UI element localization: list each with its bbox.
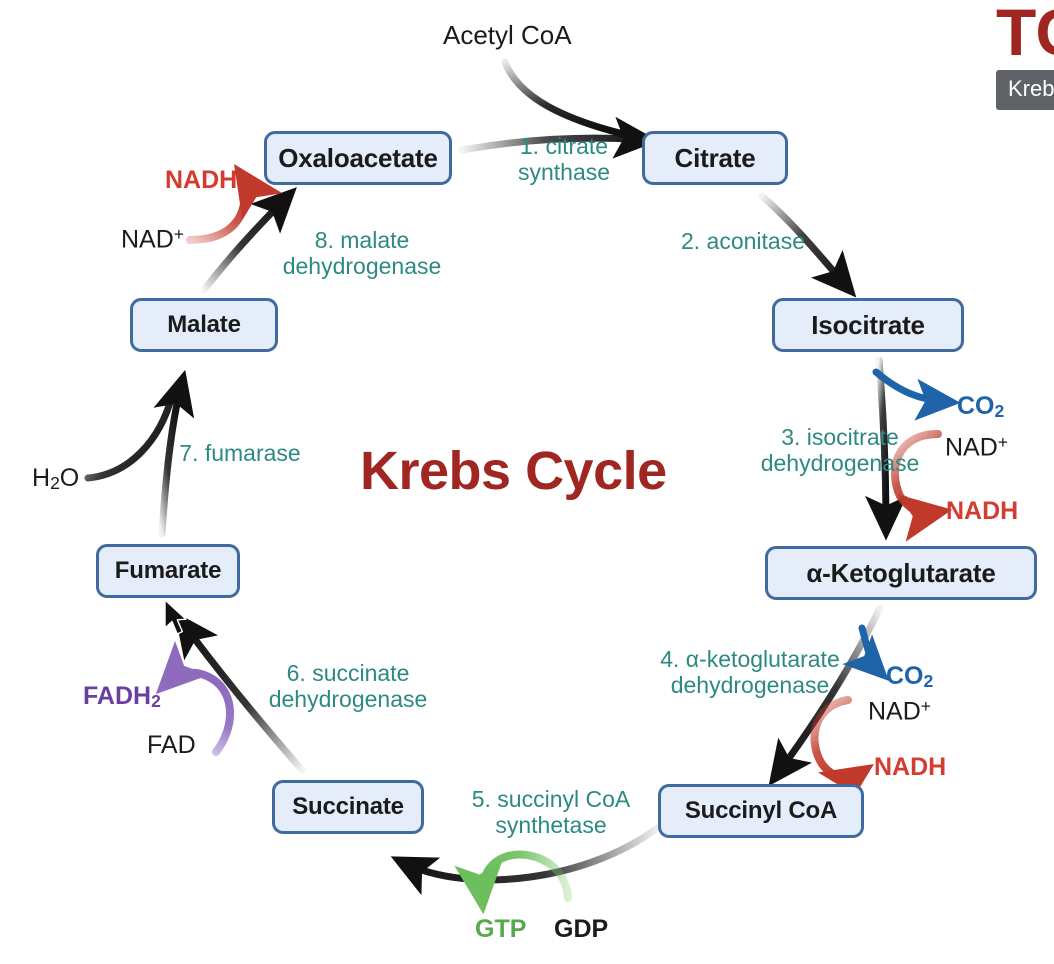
diagram-title: Krebs Cycle bbox=[360, 440, 667, 502]
label-fadh2: FADH2 bbox=[83, 682, 161, 712]
node-malate[interactable]: Malate bbox=[130, 298, 278, 352]
node-fumarate[interactable]: Fumarate bbox=[96, 544, 240, 598]
enzyme-label-step-3: 3. isocitrate dehydrogenase bbox=[740, 424, 940, 476]
node-oxaloacetate[interactable]: Oxaloacetate bbox=[264, 131, 452, 185]
enzyme-label-step-7: 7. fumarase bbox=[168, 440, 312, 466]
label-fad: FAD bbox=[147, 731, 196, 760]
label-water: H2O bbox=[32, 464, 79, 494]
label-gdp: GDP bbox=[554, 915, 608, 944]
enzyme-label-step-2: 2. aconitase bbox=[668, 228, 818, 254]
enzyme-label-step-1: 1. citrate synthase bbox=[499, 133, 629, 185]
enzyme-label-step-6: 6. succinate dehydrogenase bbox=[258, 660, 438, 712]
label-co2-step3: CO2 bbox=[957, 392, 1004, 422]
mouse-cursor-icon bbox=[163, 598, 189, 638]
arrow-acetyl-coa-input bbox=[505, 62, 640, 138]
arrow-co2-step3 bbox=[876, 372, 948, 402]
krebs-cycle-diagram: Oxaloacetate Citrate Isocitrate α-Ketogl… bbox=[0, 0, 1054, 964]
label-nadplus-step4: NAD+ bbox=[868, 696, 931, 726]
enzyme-label-step-8: 8. malate dehydrogenase bbox=[272, 227, 452, 279]
node-isocitrate[interactable]: Isocitrate bbox=[772, 298, 964, 352]
label-co2-step4: CO2 bbox=[886, 662, 933, 692]
label-nadh-step4: NADH bbox=[874, 753, 946, 782]
arrow-co2-step4 bbox=[862, 628, 880, 672]
node-succinate[interactable]: Succinate bbox=[272, 780, 424, 834]
label-acetyl-coa: Acetyl CoA bbox=[443, 20, 572, 51]
label-nadplus-step8: NAD+ bbox=[121, 224, 184, 254]
arrow-water-input bbox=[88, 396, 172, 478]
enzyme-label-step-4: 4. α-ketoglutarate dehydrogenase bbox=[640, 646, 860, 698]
arrow-nadh-step4 bbox=[815, 700, 862, 777]
corner-heading-clipped: TC bbox=[996, 0, 1054, 70]
node-citrate[interactable]: Citrate bbox=[642, 131, 788, 185]
node-succinyl-coa[interactable]: Succinyl CoA bbox=[658, 784, 864, 838]
node-alpha-ketoglutarate[interactable]: α-Ketoglutarate bbox=[765, 546, 1037, 600]
label-nadh-step3: NADH bbox=[946, 497, 1018, 526]
label-nadh-step8: NADH bbox=[165, 166, 237, 195]
tooltip: Krebs bbox=[996, 70, 1054, 110]
label-nadplus-step3: NAD+ bbox=[945, 432, 1008, 462]
enzyme-label-step-5: 5. succinyl CoA synthetase bbox=[456, 786, 646, 838]
label-gtp: GTP bbox=[475, 915, 526, 944]
